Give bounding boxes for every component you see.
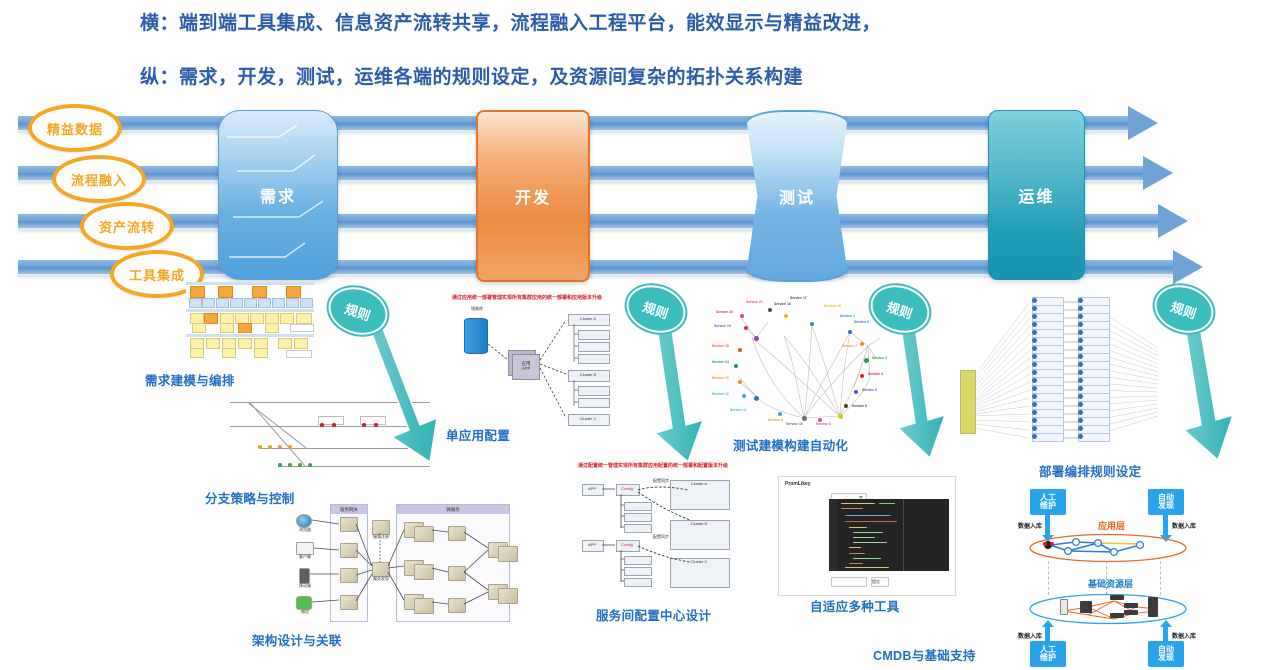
- thumbnail-config-center[interactable]: APP Config APP Config Cluster A Cluster …: [578, 470, 734, 588]
- kanban-story-note: [286, 298, 299, 308]
- thumbnail-architecture[interactable]: 服务网关 微服务: [292, 500, 540, 622]
- cmdb-box-label: 人工维护: [1040, 494, 1056, 511]
- kanban-task-note: [192, 323, 206, 333]
- service-label: Service 21: [746, 300, 763, 304]
- phase-label: 需求: [260, 183, 296, 207]
- service-label: Service 12: [712, 392, 729, 396]
- client-label-wechat: 微信: [292, 609, 318, 615]
- git-commit-dot: [298, 463, 302, 467]
- code-line: [879, 503, 895, 504]
- badge-asset-flow[interactable]: 资产流转: [80, 202, 174, 250]
- service-node: [810, 322, 814, 326]
- badge-label: 资产流转: [99, 217, 155, 236]
- kanban-task-note: [265, 323, 279, 333]
- cmdb-box-label: 人工维护: [1040, 646, 1056, 663]
- rule-badge-requirements[interactable]: 规则: [322, 280, 393, 342]
- architecture-connectors: [292, 500, 540, 622]
- code-line: [853, 532, 883, 533]
- thumbnail-cmdb[interactable]: 人工维护 自动发现 数据入库 数据入库 应用层: [1000, 485, 1250, 670]
- rule-label: 规则: [885, 296, 916, 322]
- badge-label: 精益数据: [47, 119, 103, 138]
- code-line: [853, 558, 881, 559]
- cmdb-arrow-shaft: [1163, 515, 1168, 535]
- service-label: Service 9: [768, 418, 783, 422]
- phase-box-operations[interactable]: 运维: [988, 110, 1085, 280]
- thumbnail-single-app-config[interactable]: 镜像库 应用APP Cluster A Cluster B Cluster C: [452, 302, 614, 432]
- cmdb-switch-icon: [1110, 595, 1124, 600]
- service-label: Service 7: [842, 344, 857, 348]
- service-label: Service 2: [854, 320, 869, 324]
- git-branch-line: [230, 426, 430, 427]
- code-split-line: [903, 499, 904, 571]
- cmdb-layer-connector: [1048, 561, 1049, 595]
- service-node: [802, 416, 807, 421]
- caption-adaptive-tools: 自适应多种工具: [810, 596, 900, 615]
- caption-single-app-config: 单应用配置: [446, 425, 510, 444]
- service-node: [742, 394, 746, 398]
- kanban-story-note: [258, 298, 271, 308]
- kanban-task-note: [190, 348, 204, 358]
- cmdb-arrow-shaft: [1163, 627, 1168, 641]
- git-commit-dot: [278, 445, 282, 449]
- service-label: Service 14: [712, 360, 729, 364]
- code-line: [845, 515, 891, 516]
- flow-arrowhead-2: [1143, 156, 1173, 190]
- cmdb-arrow-tip: [1042, 620, 1054, 627]
- client-label-browser: 浏览器: [292, 527, 318, 533]
- service-node: [738, 348, 742, 352]
- git-commit-dot: [278, 463, 282, 467]
- cmdb-arrow-shaft: [1045, 627, 1050, 641]
- kanban-epic-note: [252, 286, 267, 298]
- badge-label: 流程融入: [71, 170, 127, 189]
- service-node: [854, 390, 858, 394]
- cmdb-switch-icon: [1124, 603, 1138, 608]
- cmdb-box-label: 自动发现: [1158, 646, 1174, 663]
- kanban-story-note: [244, 298, 257, 308]
- service-label: Service 8: [816, 422, 831, 426]
- service-node: [848, 330, 852, 334]
- service-registry-label: 服务注册: [366, 534, 396, 540]
- badge-process-integration[interactable]: 流程融入: [52, 155, 146, 203]
- headline-horizontal: 横：端到端工具集成、信息资产流转共享，流程融入工程平台，能效显示与精益改进，: [140, 8, 881, 35]
- service-label: Service 18: [774, 302, 791, 306]
- headline-vertical: 纵：需求，开发，测试，运维各端的规则设定，及资源间复杂的拓扑关系构建: [140, 62, 803, 89]
- service-node: [740, 314, 744, 318]
- cmdb-app-layer-title: 应用层: [1098, 519, 1125, 532]
- sync-label: 配置同步: [646, 534, 676, 540]
- caption-test-modeling: 测试建模构建自动化: [733, 435, 848, 454]
- kanban-task-note: [220, 323, 234, 333]
- caption-requirement-modeling: 需求建模与编排: [145, 370, 235, 389]
- flow-arrowhead-4: [1173, 250, 1203, 284]
- note-single-app-config: 通过应用统一部署管理实现所有集群应用的统一部署和应用版本升级: [452, 294, 602, 301]
- kanban-story-note: [230, 298, 243, 308]
- kanban-task-note: [294, 338, 308, 349]
- rule-label: 规则: [1169, 296, 1200, 322]
- badge-label: 工具集成: [129, 265, 185, 284]
- thumbnail-deploy-orchestration[interactable]: [958, 288, 1158, 450]
- tool-title: PromLikey: [785, 481, 811, 487]
- service-discovery-label: 服务发现: [366, 576, 396, 582]
- cmdb-arrow-shaft: [1045, 515, 1050, 535]
- service-label: Service 15: [712, 344, 729, 348]
- tool-footer-label: 提交: [872, 579, 880, 585]
- service-node: [864, 358, 869, 363]
- cmdb-switch-icon: [1124, 610, 1138, 615]
- cmdb-server-icon: [1060, 599, 1068, 615]
- kanban-epic-note: [286, 286, 301, 298]
- dev-connectors: [452, 302, 614, 432]
- kanban-story-note: [272, 298, 285, 308]
- service-label: Service 11: [730, 408, 747, 412]
- service-label: Service 19: [714, 324, 731, 328]
- service-label: Service 3: [872, 356, 887, 360]
- service-label: Service 4: [868, 372, 883, 376]
- kanban-story-note: [202, 298, 215, 308]
- kanban-swimlane: [186, 309, 314, 312]
- thumbnail-service-mesh[interactable]: Service 21 Service 20 Service 19 Service…: [712, 292, 892, 428]
- code-line: [849, 547, 861, 548]
- service-node: [784, 314, 788, 318]
- service-label: Service 1: [840, 314, 855, 318]
- flow-arrowhead-3: [1158, 204, 1188, 238]
- thumbnail-adaptive-tools[interactable]: PromLikey 全部 Get Step Set URL Job: [778, 476, 956, 596]
- caption-config-center: 服务间配置中心设计: [596, 605, 711, 624]
- cmdb-box-label: 自动发现: [1158, 494, 1174, 511]
- git-branch-line: [260, 448, 430, 449]
- kanban-epic-note: [218, 286, 233, 298]
- git-commit-dot: [288, 445, 292, 449]
- service-label: Service 13: [712, 376, 729, 380]
- rule-badge-development[interactable]: 规则: [620, 278, 691, 340]
- note-config-center: 通过配置统一管理实现所有集群应用配置的统一部署和配置版本升级: [578, 462, 728, 469]
- git-merge-line: [249, 402, 305, 466]
- code-line: [849, 553, 865, 554]
- config-connectors: [578, 470, 734, 588]
- git-commit-dot: [308, 463, 312, 467]
- kanban-swimlane: [186, 334, 314, 337]
- service-node: [844, 404, 848, 408]
- code-line: [841, 508, 863, 509]
- cmdb-ingest-label: 数据入库: [1018, 521, 1042, 530]
- kanban-release-tag: [286, 350, 312, 358]
- cmdb-auto-discovery-top[interactable]: 自动发现: [1148, 489, 1184, 515]
- service-node: [754, 336, 759, 341]
- cmdb-manual-maintenance-bottom[interactable]: 人工维护: [1030, 641, 1066, 667]
- git-commit-dot: [332, 423, 336, 427]
- code-line: [845, 521, 897, 522]
- thumbnail-branch-strategy[interactable]: [226, 390, 436, 475]
- cmdb-switch-icon: [1110, 613, 1124, 618]
- kanban-task-note: [254, 348, 268, 358]
- cmdb-infra-layer-title: 基础资源层: [1088, 577, 1133, 590]
- kanban-story-note: [216, 298, 229, 308]
- code-line: [841, 503, 875, 504]
- code-line: [853, 537, 875, 538]
- service-node: [838, 414, 843, 419]
- service-node: [734, 364, 738, 368]
- git-branch-line: [230, 402, 430, 403]
- git-commit-dot: [374, 423, 378, 427]
- rule-label: 规则: [343, 298, 374, 324]
- kanban-task-note: [238, 323, 252, 333]
- rule-badge-operations[interactable]: 规则: [1148, 278, 1219, 340]
- cmdb-ingest-label: 数据入库: [1172, 631, 1196, 640]
- kanban-task-note: [204, 313, 218, 324]
- code-line: [849, 563, 863, 564]
- git-commit-dot: [258, 445, 262, 449]
- cmdb-storage-icon: [1148, 597, 1158, 617]
- git-commit-dot: [288, 463, 292, 467]
- code-line: [845, 567, 889, 568]
- code-line: [853, 542, 887, 543]
- git-commit-dot: [320, 423, 324, 427]
- kanban-story-note: [189, 298, 202, 308]
- kanban-task-note: [222, 348, 236, 358]
- kanban-swimlane: [186, 282, 314, 285]
- kanban-epic-note: [190, 286, 205, 298]
- code-line: [849, 527, 867, 528]
- cmdb-ingest-label: 数据入库: [1018, 631, 1042, 640]
- cmdb-ingest-label: 数据入库: [1172, 521, 1196, 530]
- tool-code-editor[interactable]: [829, 499, 949, 571]
- kanban-task-note: [206, 338, 220, 349]
- client-label-mobile: 移动端: [292, 583, 318, 589]
- thumbnail-requirement-kanban[interactable]: [186, 282, 314, 364]
- kanban-release-tag: [290, 324, 314, 332]
- kanban-story-note: [300, 298, 313, 308]
- cmdb-manual-maintenance-top[interactable]: 人工维护: [1030, 489, 1066, 515]
- kanban-task-note: [278, 338, 292, 349]
- service-label: Service 5: [862, 388, 877, 392]
- service-node: [744, 326, 748, 330]
- rule-label: 规则: [641, 296, 672, 322]
- service-node: [738, 380, 742, 384]
- client-label-desktop: 客户端: [292, 554, 318, 560]
- git-commit-dot: [362, 423, 366, 427]
- service-node: [768, 308, 772, 312]
- cmdb-arrow-tip: [1160, 620, 1172, 627]
- caption-architecture: 架构设计与关联: [252, 630, 342, 649]
- flow-arrowhead-1: [1128, 106, 1158, 140]
- service-label: Service 17: [790, 296, 807, 300]
- service-label: Service 16: [824, 304, 841, 308]
- cmdb-app-nodes: [1028, 533, 1188, 563]
- phase-box-requirements[interactable]: 需求: [218, 110, 338, 280]
- service-node: [778, 412, 782, 416]
- caption-branch-strategy: 分支策略与控制: [205, 488, 295, 507]
- kanban-task-note: [250, 313, 264, 324]
- caption-cmdb: CMDB与基础支持: [873, 645, 976, 664]
- phase-label: 运维: [1018, 183, 1054, 207]
- kanban-task-note: [238, 338, 252, 349]
- cmdb-rack-icon: [1080, 601, 1092, 613]
- kanban-task-note: [280, 313, 294, 324]
- service-node: [860, 342, 864, 346]
- sync-label: 配置同步: [646, 478, 676, 484]
- service-node: [754, 396, 759, 401]
- cmdb-layer-connector: [1160, 561, 1161, 595]
- service-label: Service 6: [852, 404, 867, 408]
- service-label: Service 10: [786, 422, 803, 426]
- caption-deploy-rules: 部署编排规则设定: [1039, 461, 1141, 480]
- code-gutter: [829, 499, 838, 571]
- phase-label: 测试: [779, 184, 815, 208]
- phase-box-development[interactable]: 开发: [476, 110, 590, 282]
- diagram-canvas: 横：端到端工具集成、信息资产流转共享，流程融入工程平台，能效显示与精益改进， 纵…: [0, 0, 1266, 670]
- kanban-task-note: [296, 313, 312, 324]
- service-label: Service 20: [716, 310, 733, 314]
- service-node: [860, 374, 864, 378]
- badge-lean-data[interactable]: 精益数据: [28, 104, 122, 152]
- tool-footer-select[interactable]: [831, 577, 867, 587]
- phase-label: 开发: [515, 184, 551, 208]
- phase-box-testing[interactable]: 测试: [745, 110, 849, 282]
- git-commit-dot: [268, 445, 272, 449]
- cmdb-auto-discovery-bottom[interactable]: 自动发现: [1148, 641, 1184, 667]
